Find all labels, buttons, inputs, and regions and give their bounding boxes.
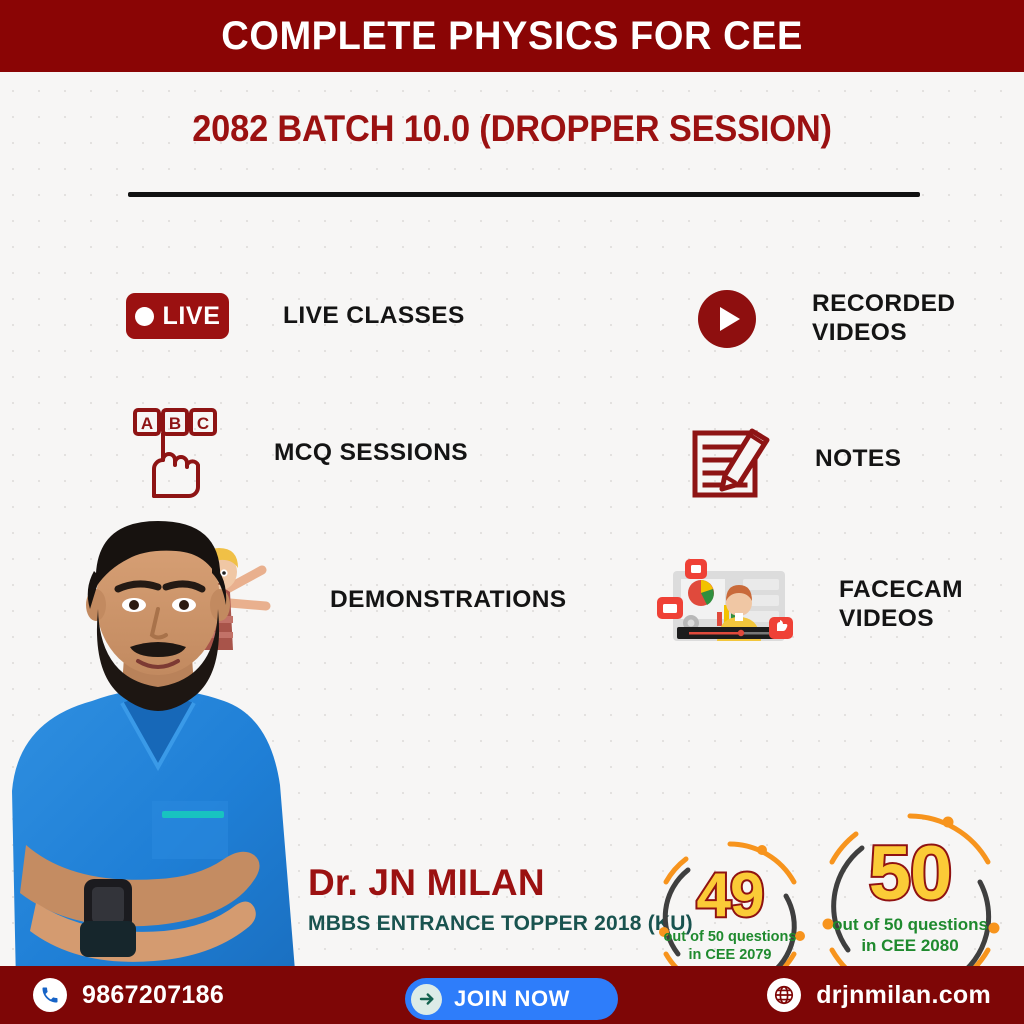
phone-number: 9867207186 (82, 981, 224, 1010)
note-pencil-icon (689, 417, 773, 501)
score-badge-50-caption: out of 50 questions in CEE 2080 (812, 914, 1008, 957)
header-bar: COMPLETE PHYSICS FOR CEE (0, 0, 1024, 72)
footer-phone[interactable]: 9867207186 (33, 978, 224, 1012)
join-now-button[interactable]: JOIN NOW (405, 978, 618, 1020)
feature-label-recorded-videos: RECORDED VIDEOS (812, 290, 955, 348)
website-url: drjnmilan.com (816, 981, 991, 1010)
score-badge-49-caption: out of 50 questions in CEE 2079 (648, 928, 812, 964)
feature-label-mcq-sessions: MCQ SESSIONS (274, 439, 468, 468)
instructor-name-block: Dr. JN MILAN MBBS ENTRANCE TOPPER 2018 (… (308, 862, 693, 936)
phone-icon (33, 978, 67, 1012)
join-now-label: JOIN NOW (454, 986, 570, 1012)
live-badge-icon: LIVE (126, 293, 229, 339)
page-title: COMPLETE PHYSICS FOR CEE (221, 14, 803, 59)
instructor-credential: MBBS ENTRANCE TOPPER 2018 (KU) (308, 912, 693, 936)
feature-label-notes: NOTES (815, 445, 901, 474)
footer-website[interactable]: drjnmilan.com (767, 978, 991, 1012)
svg-text:C: C (197, 414, 209, 433)
globe-icon (767, 978, 801, 1012)
score-badge-49-number: 49 (648, 860, 812, 931)
feature-recorded-videos: RECORDED VIDEOS (698, 290, 955, 348)
score-badge-50-number: 50 (812, 830, 1008, 917)
feature-mcq-sessions: A B C MCQ SESSIONS (132, 407, 468, 499)
abc-hand-tap-icon: A B C (132, 407, 218, 499)
live-badge-label: LIVE (163, 302, 221, 331)
svg-text:B: B (169, 414, 181, 433)
svg-text:A: A (141, 414, 153, 433)
feature-label-live-classes: LIVE CLASSES (283, 302, 465, 331)
arrow-right-icon (411, 984, 442, 1015)
facecam-video-icon (655, 557, 803, 653)
play-circle-icon (698, 290, 756, 348)
feature-live-classes: LIVE LIVE CLASSES (126, 293, 465, 339)
feature-label-facecam-videos: FACECAM VIDEOS (839, 576, 963, 634)
feature-facecam-videos: FACECAM VIDEOS (655, 557, 963, 653)
instructor-name: Dr. JN MILAN (308, 862, 693, 904)
feature-label-demonstrations: DEMONSTRATIONS (330, 586, 567, 615)
instructor-photo (0, 505, 316, 985)
poster-canvas: COMPLETE PHYSICS FOR CEE 2082 BATCH 10.0… (0, 0, 1024, 1024)
batch-subtitle: 2082 BATCH 10.0 (DROPPER SESSION) (36, 108, 988, 150)
feature-notes: NOTES (689, 417, 901, 501)
divider (128, 192, 920, 197)
live-dot-icon (135, 307, 154, 326)
